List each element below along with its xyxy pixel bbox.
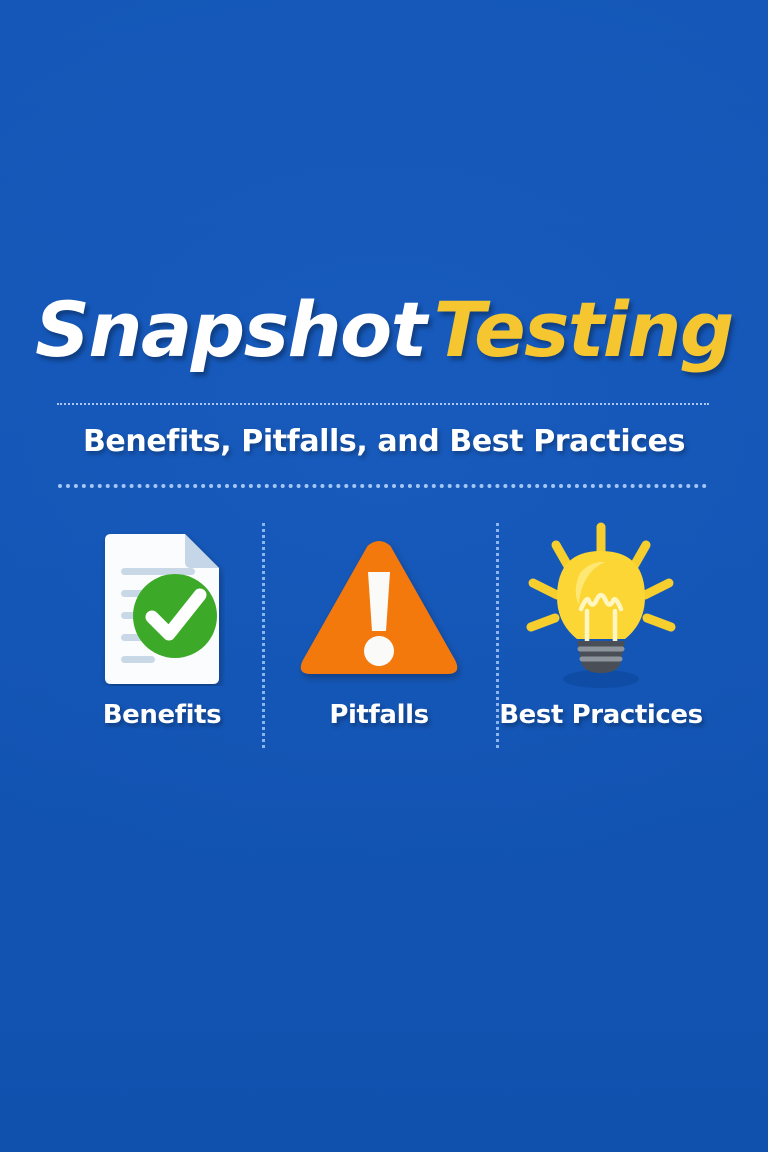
title-accent-text: Testing	[434, 282, 733, 378]
feature-card-label: Best Practices	[499, 698, 703, 732]
warning-triangle-icon	[295, 534, 463, 684]
document-check-icon-box	[62, 520, 262, 698]
feature-card-best-practices[interactable]: Best Practices	[496, 520, 706, 760]
subtitle-text: Benefits, Pitfalls, and Best Practices	[83, 419, 685, 465]
feature-card-label: Benefits	[103, 698, 222, 732]
divider-top	[57, 403, 709, 405]
divider-bottom	[58, 484, 707, 488]
document-check-icon	[99, 532, 225, 686]
feature-card-row: Benefits Pitfalls	[62, 520, 706, 760]
lightbulb-icon-box	[496, 520, 706, 698]
feature-card-label: Pitfalls	[329, 698, 428, 732]
title-primary-text: Snapshot	[35, 282, 425, 378]
warning-triangle-icon-box	[262, 520, 496, 698]
feature-card-pitfalls[interactable]: Pitfalls	[262, 520, 496, 760]
lightbulb-icon	[517, 521, 685, 697]
feature-card-benefits[interactable]: Benefits	[62, 520, 262, 760]
poster-canvas: SnapshotTesting Benefits, Pitfalls, and …	[0, 0, 768, 1152]
page-title: SnapshotTesting	[0, 282, 768, 378]
subtitle: Benefits, Pitfalls, and Best Practices	[0, 419, 768, 465]
